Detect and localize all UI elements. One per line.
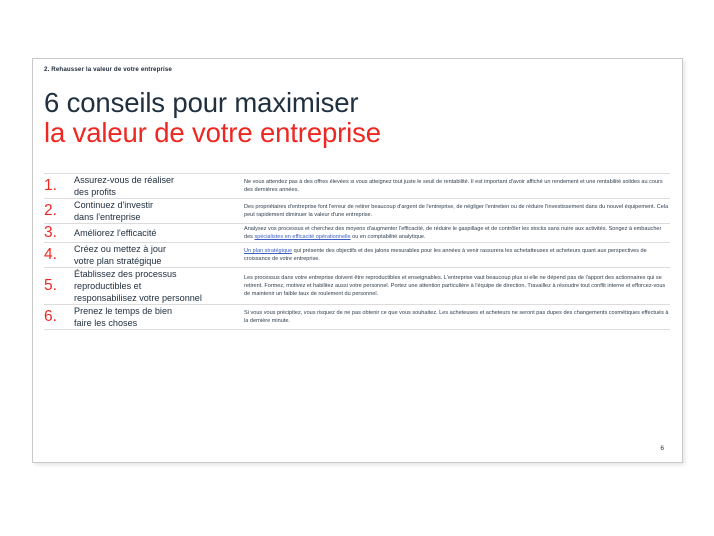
section-eyebrow: 2. Rehausser la valeur de votre entrepri… [44,66,672,73]
description-text: Ne vous attendez pas à des offres élevée… [244,179,663,193]
tip-number-cell: 2. [44,199,74,224]
description-text: Les processus dans votre entreprise doiv… [244,275,665,297]
tip-description: Si vous vous précipitez, vous risquez de… [244,309,670,325]
tip-description-cell: Des propriétaires d'entreprise font l'er… [244,199,670,224]
table-row: 5.Établissez des processusreproductibles… [44,268,670,305]
tip-title-cell: Continuez d'investirdans l'entreprise [74,199,244,224]
tip-description-cell: Un plan stratégique qui présente des obj… [244,243,670,268]
description-text: qui présente des objectifs et des jalons… [244,248,647,262]
slide-content: 2. Rehausser la valeur de votre entrepri… [43,66,672,456]
tip-description: Ne vous attendez pas à des offres élevée… [244,178,670,194]
tip-title: Continuez d'investirdans l'entreprise [74,199,244,223]
tip-title-cell: Assurez-vous de réaliserdes profits [74,174,244,199]
page-title-line-1: 6 conseils pour maximiser [44,88,672,117]
tip-description: Analysez vos processus et cherchez des m… [244,225,670,241]
tip-title-cell: Créez ou mettez à jourvotre plan stratég… [74,243,244,268]
tip-number-cell: 5. [44,268,74,305]
tip-title-line: faire les choses [74,318,137,328]
tip-title-cell: Établissez des processusreproductibles e… [74,268,244,305]
tip-description: Les processus dans votre entreprise doiv… [244,274,670,298]
page-number: 6 [660,445,664,452]
tip-number: 4. [44,246,57,263]
tip-title-line: dans l'entreprise [74,212,140,222]
tip-number: 1. [44,177,57,194]
tip-title: Prenez le temps de bienfaire les choses [74,305,244,329]
tip-title-line: Prenez le temps de bien [74,306,172,316]
tip-description-cell: Si vous vous précipitez, vous risquez de… [244,305,670,330]
tip-number-cell: 4. [44,243,74,268]
tips-table-body: 1.Assurez-vous de réaliserdes profitsNe … [44,174,670,330]
description-text: ou en comptabilité analytique. [351,234,426,240]
tip-description: Des propriétaires d'entreprise font l'er… [244,203,670,219]
tip-number: 2. [44,202,57,219]
tips-table: 1.Assurez-vous de réaliserdes profitsNe … [44,173,670,330]
tip-title-line: des profits [74,187,116,197]
tip-description-cell: Ne vous attendez pas à des offres élevée… [244,174,670,199]
tip-number: 5. [44,277,57,294]
tip-title-line: Créez ou mettez à jour [74,244,166,254]
tip-title-line: Assurez-vous de réaliser [74,175,174,185]
tip-description-cell: Les processus dans votre entreprise doiv… [244,268,670,305]
page-title-line-2: la valeur de votre entreprise [44,118,672,147]
description-text: Si vous vous précipitez, vous risquez de… [244,310,669,324]
tip-title-line: votre plan stratégique [74,256,161,266]
tip-number-cell: 6. [44,305,74,330]
table-row: 1.Assurez-vous de réaliserdes profitsNe … [44,174,670,199]
page-title: 6 conseils pour maximiser la valeur de v… [44,88,672,147]
table-row: 6.Prenez le temps de bienfaire les chose… [44,305,670,330]
tip-title-line: reproductibles et [74,281,141,291]
tip-title-line: Améliorez l'efficacité [74,228,156,238]
tip-title: Assurez-vous de réaliserdes profits [74,174,244,198]
description-text: Des propriétaires d'entreprise font l'er… [244,204,668,218]
tip-title: Établissez des processusreproductibles e… [74,268,244,304]
tip-description-cell: Analysez vos processus et cherchez des m… [244,224,670,243]
tip-title-line: responsabilisez votre personnel [74,293,202,303]
table-row: 2.Continuez d'investirdans l'entrepriseD… [44,199,670,224]
tip-title-cell: Améliorez l'efficacité [74,224,244,243]
table-row: 4.Créez ou mettez à jourvotre plan strat… [44,243,670,268]
tip-title-line: Établissez des processus [74,269,177,279]
slide-frame: 2. Rehausser la valeur de votre entrepri… [32,58,683,463]
tip-title-line: Continuez d'investir [74,200,153,210]
inline-link[interactable]: spécialistes en efficacité opérationnell… [254,234,350,240]
tip-number-cell: 1. [44,174,74,199]
tip-number-cell: 3. [44,224,74,243]
table-row: 3.Améliorez l'efficacitéAnalysez vos pro… [44,224,670,243]
tip-number: 3. [44,224,57,241]
tip-title: Améliorez l'efficacité [74,227,244,239]
tip-title-cell: Prenez le temps de bienfaire les choses [74,305,244,330]
tip-title: Créez ou mettez à jourvotre plan stratég… [74,243,244,267]
inline-link[interactable]: Un plan stratégique [244,248,292,254]
tip-number: 6. [44,308,57,325]
tip-description: Un plan stratégique qui présente des obj… [244,247,670,263]
